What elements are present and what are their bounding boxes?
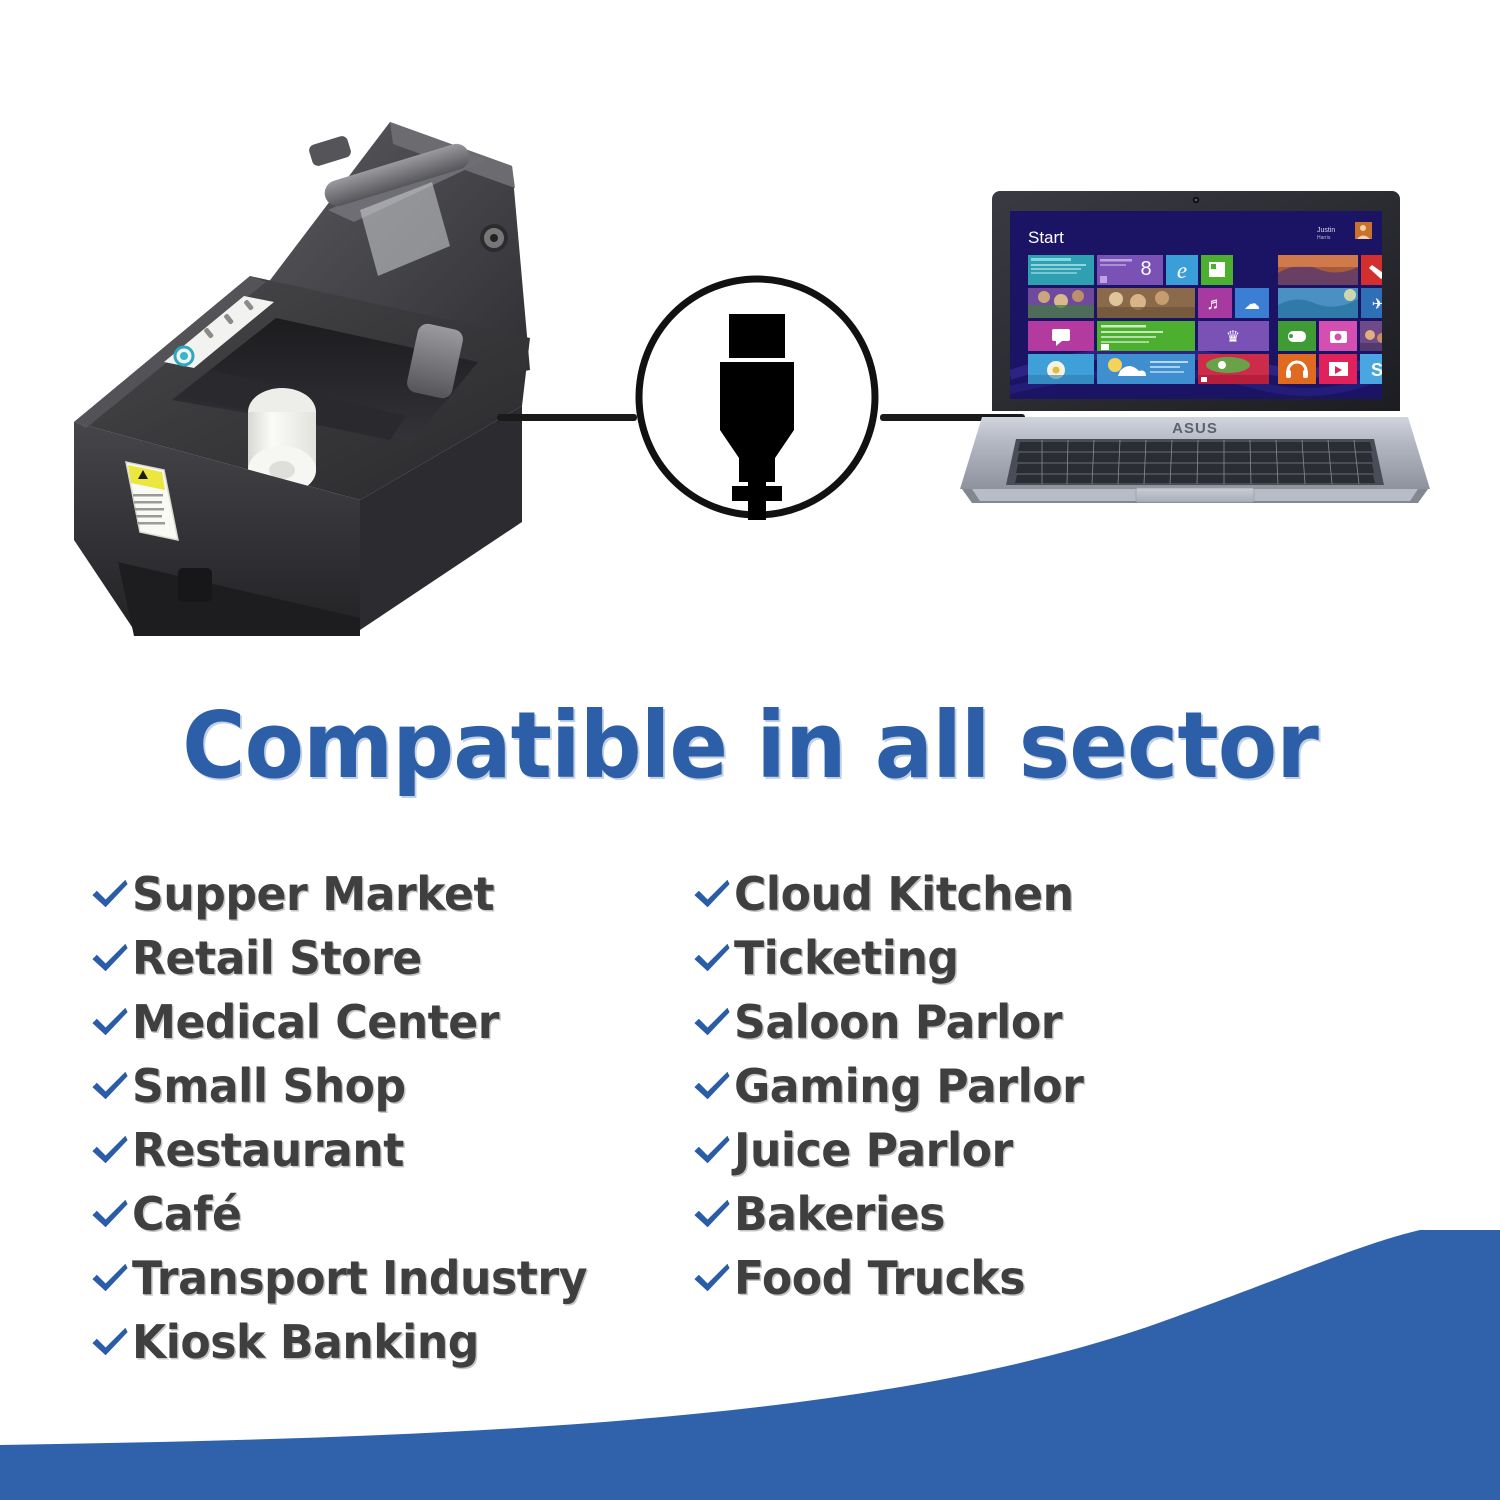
check-icon — [88, 1128, 132, 1172]
check-icon — [88, 1064, 132, 1108]
hero-illustration: Start Justin Harris — [0, 0, 1500, 680]
sector-label: Retail Store — [132, 933, 422, 983]
sector-label: Supper Market — [132, 869, 494, 919]
list-item: Small Shop — [88, 1054, 688, 1118]
asus-logo: ASUS — [1172, 420, 1218, 437]
check-icon — [88, 936, 132, 980]
keyboard — [1006, 439, 1384, 485]
sector-label: Medical Center — [132, 997, 499, 1047]
check-icon — [690, 872, 734, 916]
sector-label: Ticketing — [734, 933, 959, 983]
sector-label: Restaurant — [132, 1125, 404, 1175]
svg-text:e: e — [1177, 258, 1187, 283]
sector-label: Small Shop — [132, 1061, 406, 1111]
check-icon — [690, 1000, 734, 1044]
check-icon — [690, 936, 734, 980]
sector-label: Saloon Parlor — [734, 997, 1062, 1047]
svg-text:S: S — [1371, 360, 1383, 380]
usb-cable-left — [497, 414, 637, 421]
list-item: Ticketing — [690, 926, 1290, 990]
check-icon — [88, 1000, 132, 1044]
svg-text:♬: ♬ — [1207, 294, 1224, 313]
printer-body — [74, 276, 530, 636]
list-item: Cloud Kitchen — [690, 862, 1290, 926]
list-item: Saloon Parlor — [690, 990, 1290, 1054]
list-item: Supper Market — [88, 862, 688, 926]
sector-label: Cloud Kitchen — [734, 869, 1074, 919]
page-title: Compatible in all sector — [45, 694, 1455, 798]
check-icon — [690, 1064, 734, 1108]
usb-connection-icon — [632, 272, 882, 522]
thermal-receipt-printer — [60, 70, 580, 650]
svg-text:♛: ♛ — [1226, 327, 1240, 346]
check-icon — [88, 872, 132, 916]
list-item: Retail Store — [88, 926, 688, 990]
list-item: Medical Center — [88, 990, 688, 1054]
bottom-blue-band — [0, 1230, 1500, 1500]
sector-label: Gaming Parlor — [734, 1061, 1083, 1111]
svg-text:☁: ☁ — [1244, 294, 1260, 313]
svg-text:8: 8 — [1140, 258, 1151, 280]
list-item: Juice Parlor — [690, 1118, 1290, 1182]
trackpad — [972, 488, 1418, 502]
check-icon — [690, 1128, 734, 1172]
list-item: Gaming Parlor — [690, 1054, 1290, 1118]
promo-page: Start Justin Harris — [0, 0, 1500, 1500]
laptop-screen: Start Justin Harris — [1010, 211, 1395, 399]
user-subtitle: Harris — [1317, 235, 1331, 241]
start-label: Start — [1028, 228, 1064, 247]
list-item: Restaurant — [88, 1118, 688, 1182]
user-name: Justin — [1317, 227, 1335, 234]
asus-laptop: Start Justin Harris — [960, 185, 1430, 540]
sector-label: Juice Parlor — [734, 1125, 1013, 1175]
